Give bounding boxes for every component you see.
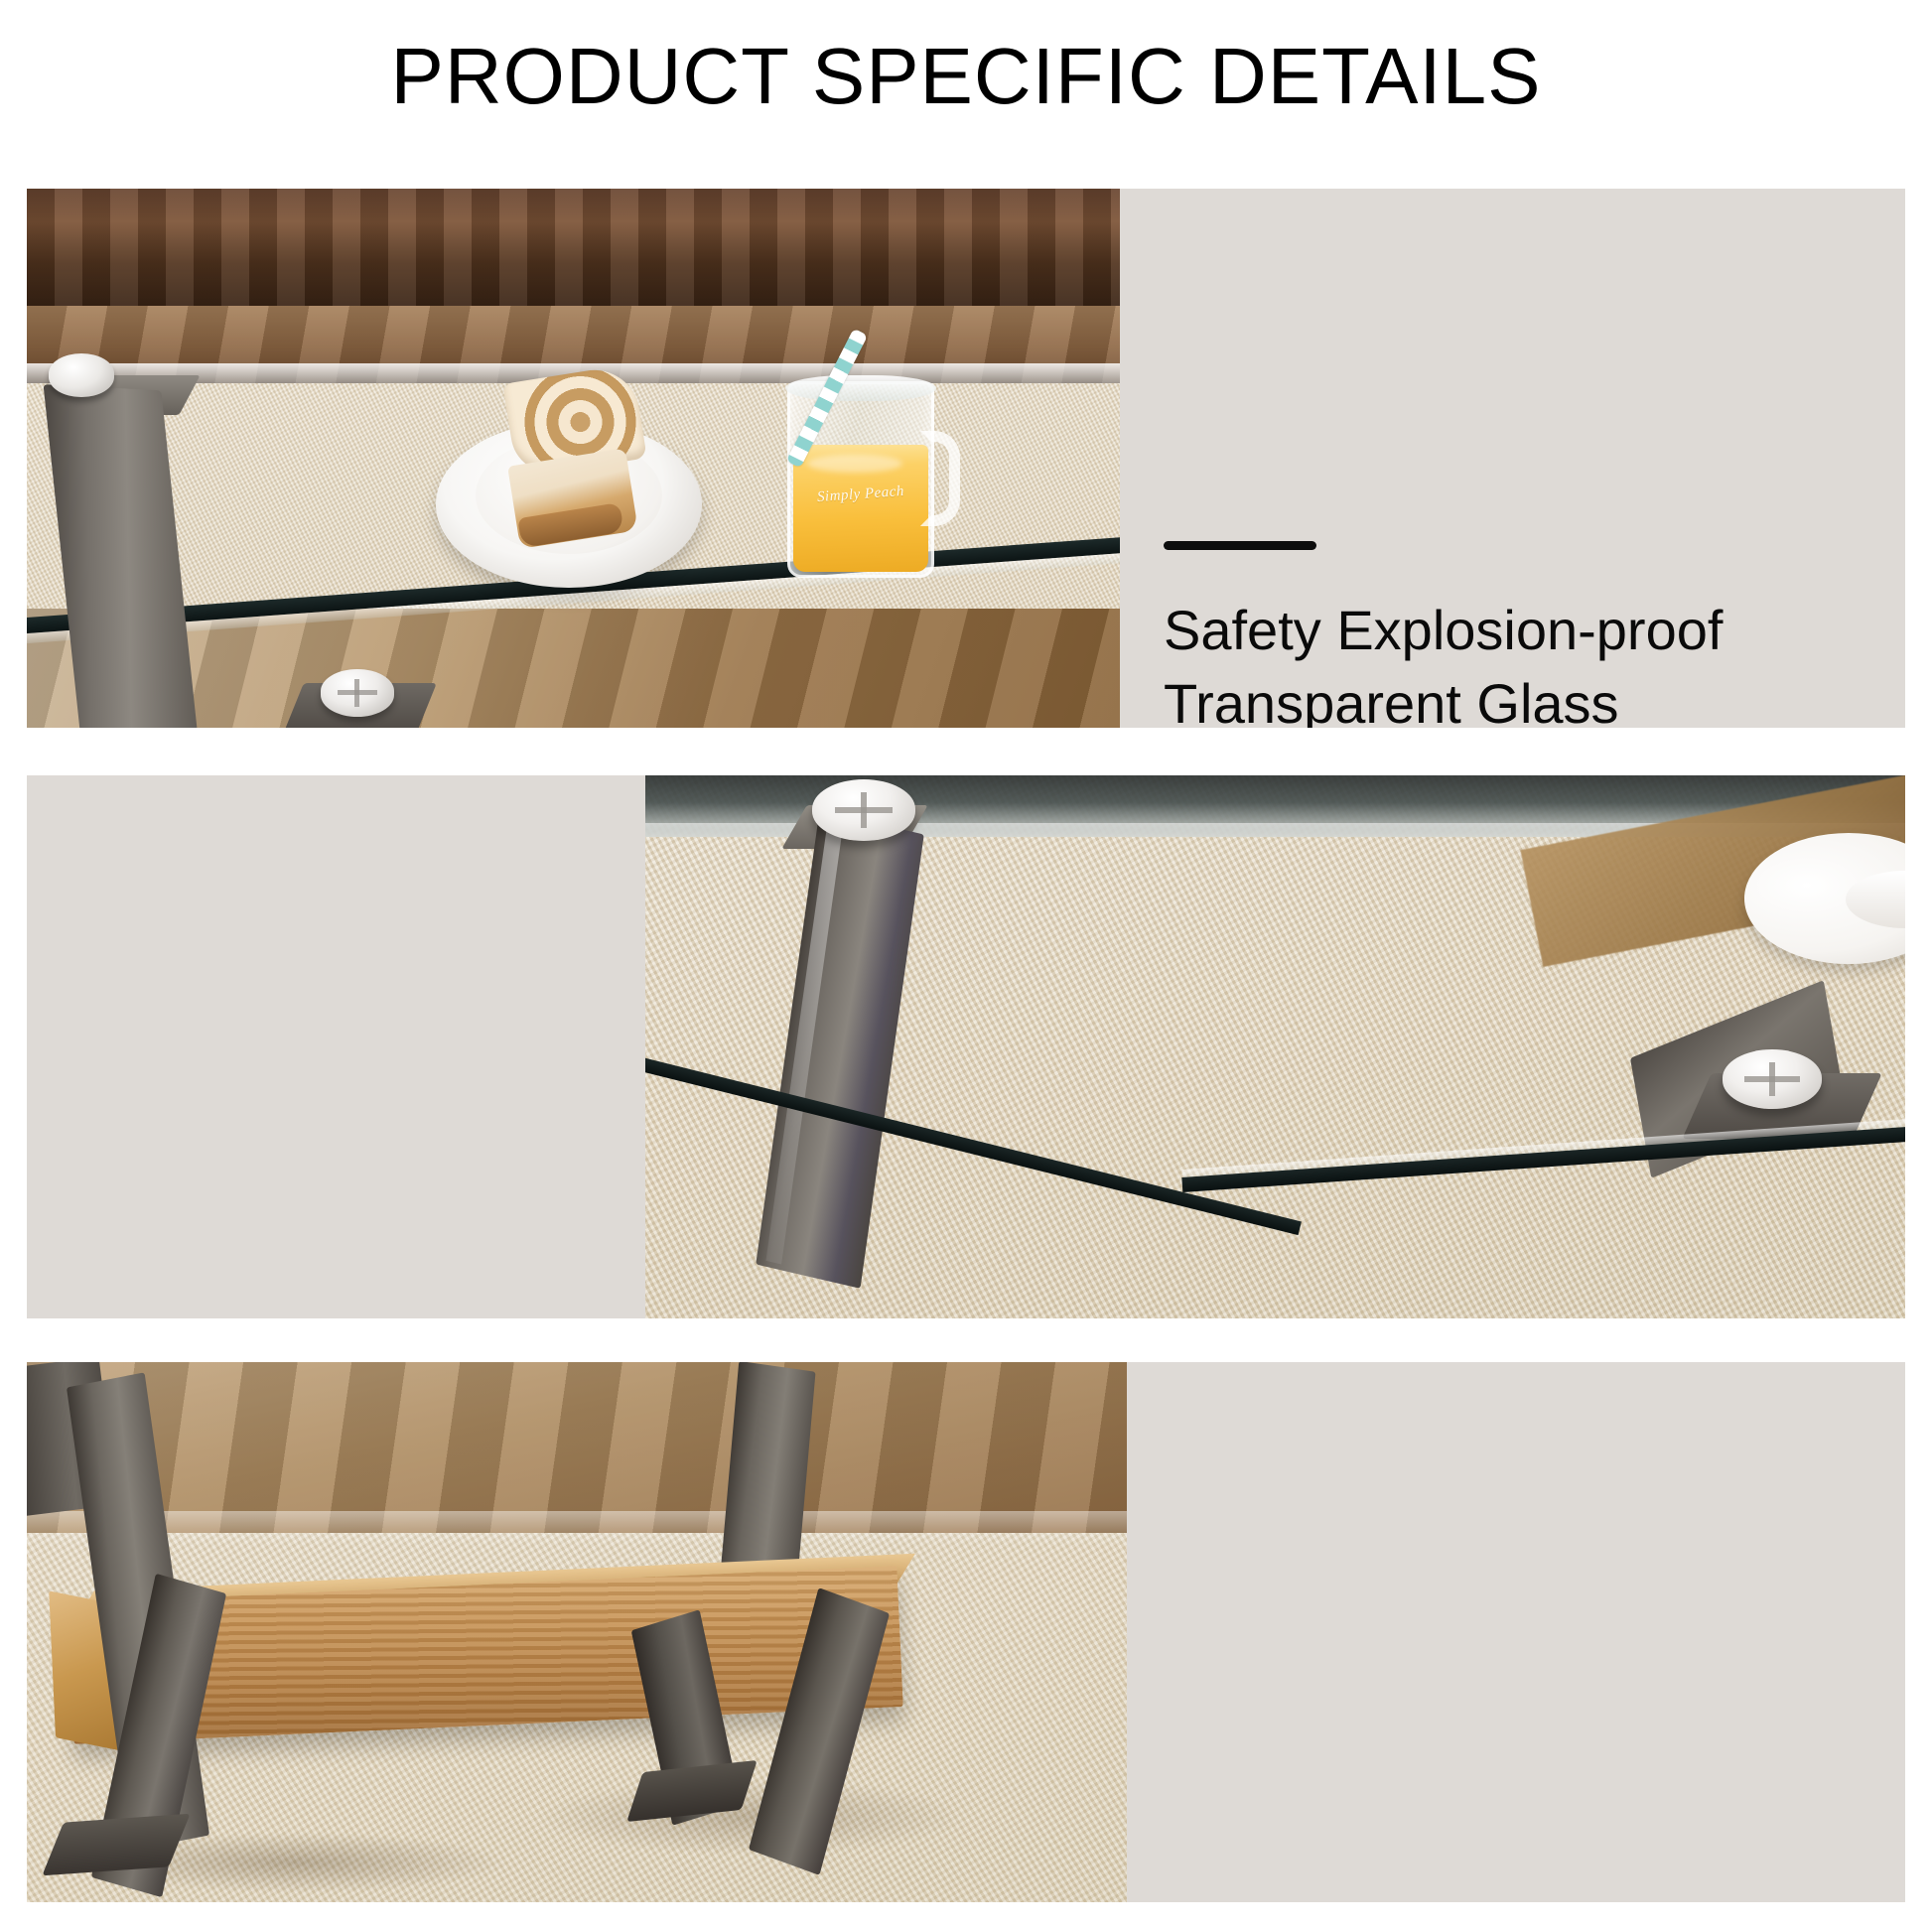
caption-line: Transparent Glass bbox=[1164, 667, 1859, 728]
rug-edge bbox=[27, 1511, 1127, 1545]
panel-1-caption: Safety Explosion-proof Transparent Glass bbox=[1164, 541, 1859, 728]
product-details-infographic: PRODUCT SPECIFIC DETAILS bbox=[0, 0, 1932, 1932]
detail-panel-suction-cups: Sturdy Suction Cups bbox=[27, 775, 1905, 1318]
detail-panel-safety-glass: Simply Peach Safety Explosion-proof Tran… bbox=[27, 189, 1905, 728]
jar-handle bbox=[920, 431, 960, 526]
marble-cake-slice bbox=[509, 373, 640, 548]
product-photo-glass-tabletop: Simply Peach bbox=[27, 189, 1120, 728]
wooden-cabinet-background bbox=[27, 189, 1120, 308]
juice-jar: Simply Peach bbox=[787, 357, 934, 578]
detail-panel-metal-frame: Metal Frame Support bbox=[27, 1362, 1905, 1902]
accent-dash bbox=[1164, 541, 1316, 550]
suction-cup-icon bbox=[321, 669, 394, 717]
wood-plank-floor bbox=[27, 1362, 1127, 1533]
caption-line: Safety Explosion-proof bbox=[1164, 594, 1859, 667]
suction-cup-icon bbox=[49, 353, 114, 397]
orange-juice-fill bbox=[793, 445, 928, 572]
product-photo-metal-frame bbox=[27, 1362, 1127, 1902]
suction-cup-icon bbox=[1723, 1049, 1822, 1109]
page-title: PRODUCT SPECIFIC DETAILS bbox=[0, 34, 1932, 119]
product-photo-suction-cups bbox=[645, 775, 1905, 1318]
jar-rim bbox=[785, 375, 936, 401]
suction-cup-icon bbox=[812, 779, 915, 841]
